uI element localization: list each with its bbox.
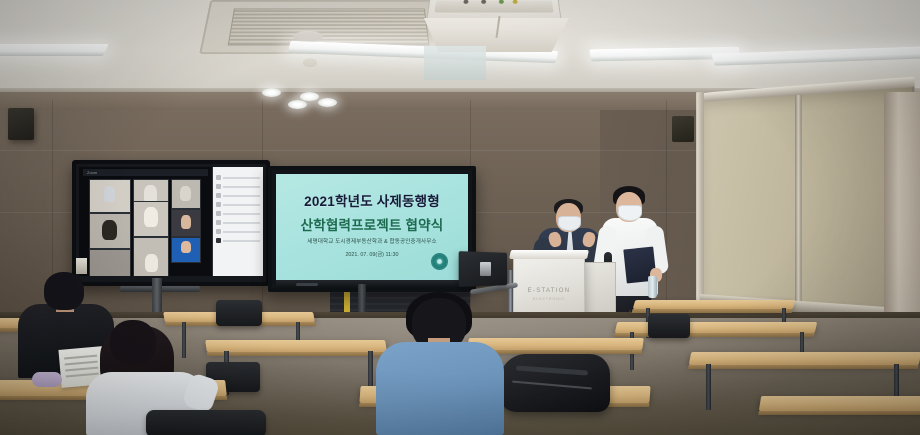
slide-title-line2: 산학협력프로젝트 협약식: [276, 214, 468, 234]
screen-control-strip: [296, 283, 318, 286]
participant-list-item[interactable]: [216, 202, 260, 207]
backpack-zipper: [512, 381, 592, 390]
projector-indicator: [499, 0, 504, 4]
desk: [615, 322, 818, 333]
chair: [216, 300, 262, 326]
chair: [146, 410, 266, 435]
face-mask-icon: [558, 216, 581, 231]
slide-subtitle: 세명대학교 도시경제부동산학과 & 합동공인중개사무소: [276, 237, 468, 245]
participant-list-item[interactable]: [216, 229, 260, 234]
ceiling-downlight: [262, 88, 281, 97]
face-mask-icon: [618, 205, 642, 221]
projector-indicator: [513, 0, 518, 4]
presentation-slide: 2021학년도 사제동행형 산학협력프로젝트 협약식 세명대학교 도시경제부동산…: [276, 174, 468, 280]
ceiling-downlight: [318, 98, 337, 107]
window-roller-blinds[interactable]: [700, 82, 914, 313]
desk: [689, 352, 920, 365]
lectern-brand-label: E-STATION: [514, 288, 584, 294]
participant-tile[interactable]: [89, 213, 131, 249]
participant-tile[interactable]: [89, 249, 131, 276]
video-app-titlebar: Zoom: [83, 169, 208, 176]
window-frame: [696, 92, 704, 305]
classroom-photo: Zoom: [0, 0, 920, 435]
participant-tile[interactable]: [171, 237, 201, 263]
participant-list-item[interactable]: [216, 193, 260, 198]
participant-tile[interactable]: [171, 179, 201, 209]
desk-leg: [182, 322, 186, 358]
projector-face: [435, 1, 554, 13]
blind-panel-divider: [795, 95, 802, 301]
desk: [205, 340, 387, 352]
video-participants-panel[interactable]: [212, 167, 263, 276]
participant-tile[interactable]: [89, 179, 131, 213]
wall-seam: [666, 100, 667, 312]
lectern-brand-sublabel: ELECTRONIC: [514, 297, 584, 301]
participant-list-item[interactable]: [216, 238, 260, 243]
seated-student-head: [110, 320, 156, 364]
tv-label-sticker: [76, 258, 87, 274]
participant-list-item[interactable]: [216, 220, 260, 225]
participant-tile[interactable]: [171, 209, 201, 237]
backpack: [500, 354, 610, 412]
participant-list-item[interactable]: [216, 184, 260, 189]
screen-bezel: [276, 280, 468, 288]
participant-tile[interactable]: [133, 201, 169, 237]
backpack-strap: [516, 365, 588, 375]
projection-screen: 2021학년도 사제동행형 산학협력프로젝트 협약식 세명대학교 도시경제부동산…: [268, 166, 476, 292]
video-app-label: Zoom: [87, 170, 97, 175]
slide-title-line1: 2021학년도 사제동행형: [276, 190, 468, 210]
ceiling-downlight: [300, 92, 319, 101]
chair: [648, 314, 690, 338]
desk: [633, 300, 796, 309]
pencil-pouch: [32, 372, 62, 387]
participant-list-item[interactable]: [216, 175, 260, 180]
ceiling-dome-light: [303, 58, 317, 67]
wall-speaker: [672, 116, 694, 142]
desk-leg: [368, 351, 373, 391]
participant-list-item[interactable]: [216, 211, 260, 216]
wall-seam: [0, 150, 700, 151]
university-emblem-icon: [431, 253, 448, 270]
video-conference-grid: Zoom: [79, 167, 212, 276]
seated-student-body: [376, 342, 504, 435]
desk: [759, 396, 920, 411]
tv-screen: Zoom: [79, 167, 263, 276]
participant-tile[interactable]: [133, 237, 169, 276]
ac-grille: [228, 9, 430, 46]
wall-speaker: [8, 108, 34, 140]
seated-student-head: [44, 272, 84, 310]
desk: [467, 338, 644, 350]
webcam-icon: [480, 262, 491, 276]
ceiling-downlight: [288, 100, 307, 109]
desk-leg: [706, 364, 711, 410]
wall-corner-column: [884, 92, 920, 328]
ceiling-strip-light: [0, 44, 109, 56]
lectern-top-surface: [509, 250, 589, 259]
wall-tv-display[interactable]: Zoom: [72, 160, 270, 286]
water-bottle: [648, 276, 657, 298]
projector-mount-plate: [424, 46, 486, 80]
